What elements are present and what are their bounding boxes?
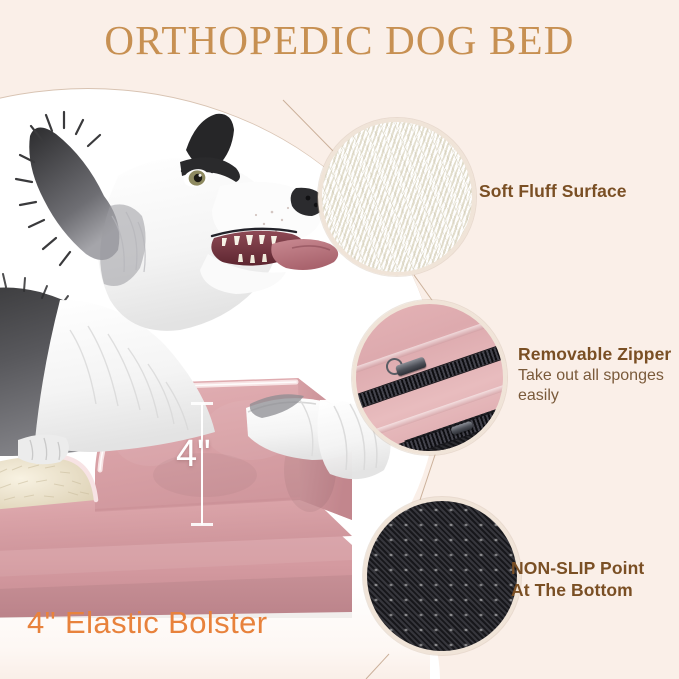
feature-heading-line2: At The Bottom <box>511 580 644 602</box>
feature-heading: Removable Zipper <box>518 344 679 366</box>
product-infographic: ORTHOPEDIC DOG BED <box>0 0 679 679</box>
feature-label-non-slip: NON-SLIP Point At The Bottom <box>511 558 644 602</box>
feature-swatch-non-slip <box>363 497 521 655</box>
feature-swatch-removable-zipper <box>352 300 507 455</box>
feature-heading: NON-SLIP Point <box>511 558 644 580</box>
measurement-label: 4" <box>176 433 211 476</box>
feature-subtext: Take out all sponges easily <box>518 366 679 407</box>
measure-cap-bottom <box>191 523 213 526</box>
feature-swatch-soft-fluff <box>318 118 476 276</box>
feature-heading: Soft Fluff Surface <box>479 181 627 203</box>
feature-label-soft-fluff: Soft Fluff Surface <box>479 181 627 203</box>
feature-label-removable-zipper: Removable Zipper Take out all sponges ea… <box>518 344 679 407</box>
product-photo <box>0 0 420 679</box>
bolster-caption: 4" Elastic Bolster <box>27 605 267 641</box>
zipper-track-upper <box>352 325 507 414</box>
